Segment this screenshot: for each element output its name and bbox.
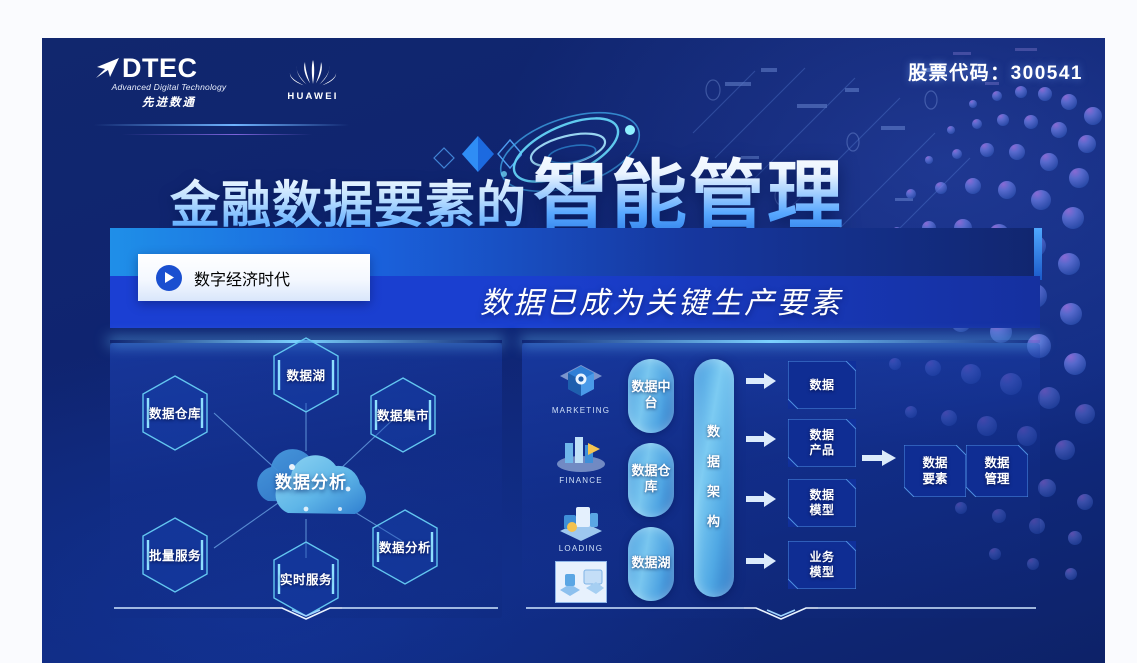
huawei-wordmark: HUAWEI (280, 91, 346, 102)
loading-server-icon (552, 499, 610, 543)
logo-underline-decoration (94, 124, 349, 126)
architecture-char: 架 (707, 478, 721, 508)
presentation-slide: DTEC Advanced Digital Technology 先进数通 (42, 38, 1105, 663)
source-caption: MARKETING (550, 406, 612, 415)
platform-data-midend[interactable]: 数据中台 (628, 359, 674, 433)
play-icon (156, 265, 182, 291)
flow-arrow-icon (746, 371, 776, 391)
data-thumbnail-icon (556, 562, 606, 602)
hex-node-label: 实时服务 (280, 572, 332, 587)
hex-node-data-analysis[interactable]: 数据分析 (368, 507, 442, 587)
hex-node-label: 批量服务 (149, 548, 201, 563)
hex-node-data-mart[interactable]: 数据集市 (366, 375, 440, 455)
hex-node-data-lake[interactable]: 数据湖 (269, 335, 343, 415)
architecture-char: 数 (707, 418, 721, 448)
output-data[interactable]: 数据 (788, 361, 856, 409)
source-loading[interactable]: LOADING (550, 499, 612, 553)
architecture-char: 构 (707, 508, 721, 538)
dtec-arrow-icon (94, 56, 120, 80)
huawei-logo: HUAWEI (280, 56, 346, 102)
output-business-model[interactable]: 业务模型 (788, 541, 856, 589)
dtec-wordmark: DTEC (122, 56, 198, 80)
hex-node-label: 数据分析 (379, 540, 431, 555)
source-data-thumbnail[interactable] (555, 561, 607, 603)
cloud-node-data-analysis[interactable]: 数据分析 (248, 435, 366, 527)
output-label: 数据 (809, 378, 834, 393)
output-label: 数据模型 (809, 488, 834, 518)
section-banner: 数字经济时代 数据已成为关键生产要素 (110, 228, 1040, 328)
hex-node-batch-service[interactable]: 批量服务 (138, 515, 212, 595)
output-label: 业务模型 (809, 550, 834, 580)
final-label: 数据管理 (984, 455, 1009, 487)
panel-data-architecture-flow: MARKETING FINANCE LOADING (522, 343, 1040, 618)
panel-data-analysis-hub: 数据仓库 数据湖 数据集市 (110, 343, 502, 618)
dtec-logo: DTEC Advanced Digital Technology 先进数通 (94, 56, 244, 110)
final-data-element[interactable]: 数据要素 (904, 445, 966, 497)
source-caption: LOADING (550, 544, 612, 553)
source-caption: FINANCE (550, 476, 612, 485)
huawei-petal-icon (285, 58, 341, 88)
hex-node-data-warehouse[interactable]: 数据仓库 (138, 373, 212, 453)
final-label: 数据要素 (922, 455, 947, 487)
panel-top-glow-decoration (522, 340, 1040, 343)
cloud-node-label: 数据分析 (275, 473, 347, 493)
section-tab-label: 数字经济时代 (194, 266, 290, 290)
finance-chart-icon (552, 431, 610, 475)
title-area: 金融数据要素的 智能管理 (42, 134, 1105, 239)
stock-code-label: 股票代码：300541 (908, 58, 1083, 85)
dtec-tagline: Advanced Digital Technology (94, 82, 244, 92)
flow-arrow-icon (746, 489, 776, 509)
flow-arrow-icon (746, 429, 776, 449)
banner-accent-decoration (1034, 228, 1042, 280)
output-data-product[interactable]: 数据产品 (788, 419, 856, 467)
section-tab[interactable]: 数字经济时代 (138, 254, 370, 301)
source-marketing[interactable]: MARKETING (550, 361, 612, 415)
flow-arrow-icon (746, 551, 776, 571)
section-headline: 数据已成为关键生产要素 (480, 278, 843, 322)
output-data-model[interactable]: 数据模型 (788, 479, 856, 527)
dtec-name-cn: 先进数通 (94, 94, 244, 110)
platform-label: 数据仓库 (628, 464, 674, 496)
hex-node-label: 数据仓库 (149, 406, 201, 421)
marketing-cube-icon (552, 361, 610, 405)
output-label: 数据产品 (809, 428, 834, 458)
source-finance[interactable]: FINANCE (550, 431, 612, 485)
platform-label: 数据中台 (628, 380, 674, 412)
platform-data-lake[interactable]: 数据湖 (628, 527, 674, 601)
architecture-char: 据 (707, 448, 721, 478)
logo-group: DTEC Advanced Digital Technology 先进数通 (94, 56, 346, 110)
hex-node-label: 数据湖 (286, 368, 325, 383)
platform-label: 数据湖 (631, 556, 670, 572)
final-data-management[interactable]: 数据管理 (966, 445, 1028, 497)
slide-title-part1: 金融数据要素的 (170, 165, 527, 237)
architecture-column[interactable]: 数 据 架 构 (694, 359, 734, 597)
converge-arrow-icon (862, 448, 896, 468)
hex-node-realtime-service[interactable]: 实时服务 (269, 539, 343, 619)
hex-node-label: 数据集市 (377, 408, 429, 423)
platform-data-warehouse[interactable]: 数据仓库 (628, 443, 674, 517)
